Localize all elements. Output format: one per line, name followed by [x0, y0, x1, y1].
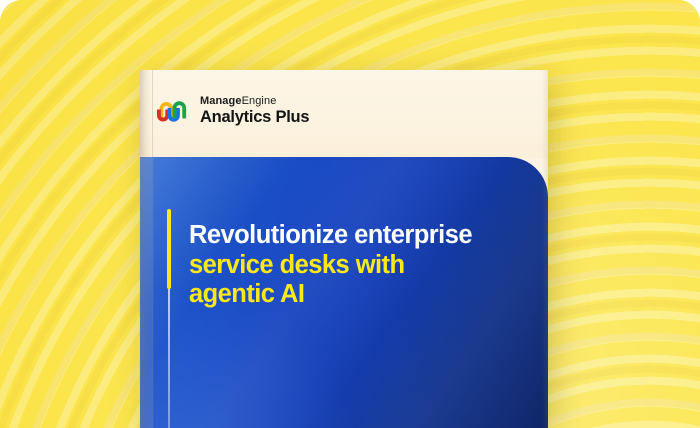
ebook-cover[interactable]: ManageEngine Analytics Plus Revolutioniz…	[140, 70, 548, 428]
cover-blue-panel: Revolutionize enterprise service desks w…	[140, 157, 548, 428]
poster-canvas: ManageEngine Analytics Plus Revolutioniz…	[0, 0, 700, 428]
book-spine-line	[152, 70, 153, 428]
cover-header-panel: ManageEngine Analytics Plus	[140, 70, 548, 158]
headline-line-1: Revolutionize enterprise	[189, 221, 534, 251]
manageengine-logo-mark-icon	[157, 96, 191, 126]
brand-logo: ManageEngine Analytics Plus	[157, 96, 309, 126]
headline-line-2: service desks with	[189, 251, 534, 281]
cover-body: ManageEngine Analytics Plus Revolutioniz…	[140, 70, 548, 428]
yellow-accent-bar	[167, 209, 171, 289]
brand-name-bold: Manage	[200, 95, 242, 107]
brand-name-line: ManageEngine	[200, 96, 309, 107]
page-title: Revolutionize enterprise service desks w…	[189, 221, 534, 310]
product-name: Analytics Plus	[200, 109, 309, 126]
headline-line-3: agentic AI	[189, 280, 534, 310]
brand-name-regular: Engine	[242, 95, 277, 107]
brand-wordmark: ManageEngine Analytics Plus	[200, 96, 309, 126]
vertical-rule	[168, 289, 170, 428]
